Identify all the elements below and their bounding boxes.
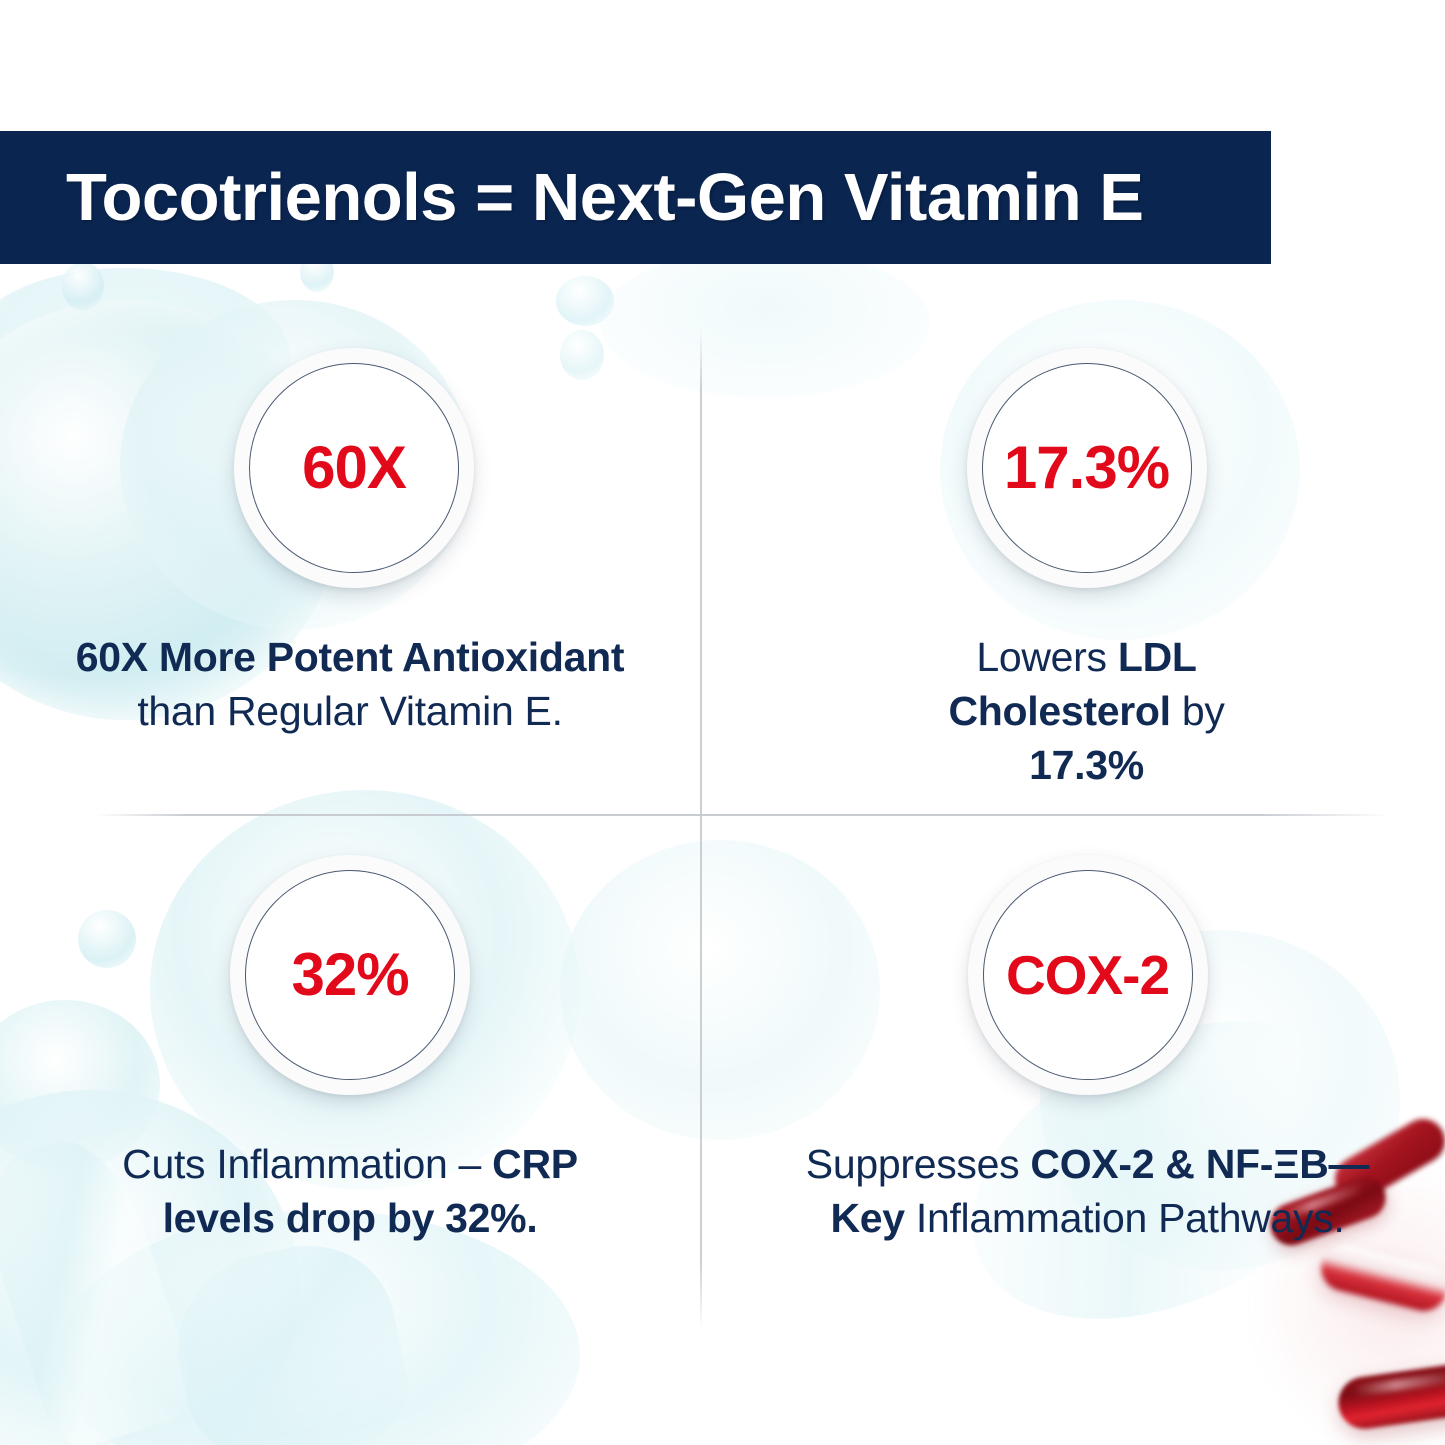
caption-emphasis: 17.3% (1029, 742, 1144, 788)
caption-emphasis: 60X More Potent Antioxidant (76, 634, 624, 680)
caption-text: Suppresses (806, 1141, 1031, 1187)
stat-caption-potency: 60X More Potent Antioxidant than Regular… (70, 630, 630, 738)
caption-text: by (1182, 688, 1225, 734)
stat-cell-ldl-cholesterol: 17.3% Lowers LDL Cholesterol by 17.3% (700, 264, 1445, 815)
stat-badge-value: COX-2 (1006, 948, 1169, 1003)
caption-text: Lowers (976, 634, 1117, 680)
caption-text: Inflammation Pathways. (916, 1195, 1345, 1241)
page-title: Tocotrienols = Next-Gen Vitamin E (0, 159, 1143, 236)
stat-caption-ldl-cholesterol: Lowers LDL Cholesterol by 17.3% (897, 630, 1277, 792)
stat-caption-cox2-nfkb: Suppresses COX-2 & NF-ΞB—Key Inflammatio… (798, 1137, 1378, 1245)
stat-badge-ldl-cholesterol: 17.3% (967, 348, 1207, 588)
stats-grid: 60X 60X More Potent Antioxidant than Reg… (0, 264, 1445, 1445)
stat-cell-crp-inflammation: 32% Cuts Inflammation – CRP levels drop … (0, 815, 700, 1445)
stat-badge-value: 60X (302, 438, 406, 498)
caption-text: than Regular Vitamin E. (137, 688, 562, 734)
infographic-poster: Tocotrienols = Next-Gen Vitamin E 60X 60… (0, 0, 1445, 1445)
stat-badge-crp-inflammation: 32% (230, 855, 470, 1095)
stat-badge-potency: 60X (234, 348, 474, 588)
stat-cell-cox2-nfkb: COX-2 Suppresses COX-2 & NF-ΞB—Key Infla… (700, 815, 1445, 1445)
stat-badge-cox2-nfkb: COX-2 (968, 855, 1208, 1095)
stat-caption-crp-inflammation: Cuts Inflammation – CRP levels drop by 3… (70, 1137, 630, 1245)
caption-text: Cuts Inflammation – (122, 1141, 492, 1187)
stat-badge-value: 32% (291, 945, 408, 1005)
stat-cell-potency: 60X 60X More Potent Antioxidant than Reg… (0, 264, 700, 815)
stat-badge-value: 17.3% (1004, 438, 1169, 498)
title-banner: Tocotrienols = Next-Gen Vitamin E (0, 131, 1271, 264)
